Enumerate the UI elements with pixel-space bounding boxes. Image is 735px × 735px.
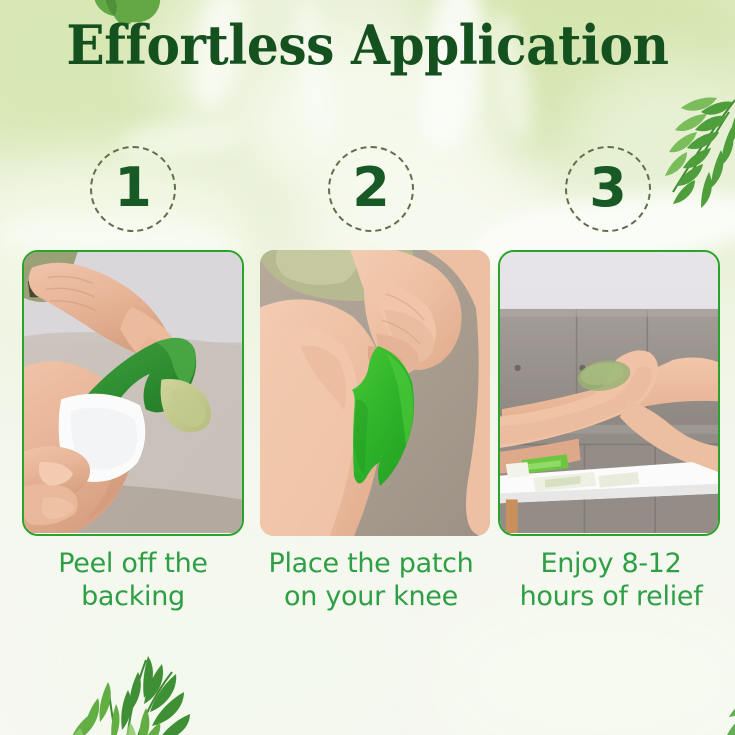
- caption-line: Enjoy 8-12: [486, 548, 735, 581]
- step-photo-2: [260, 250, 490, 536]
- caption-line: hours of relief: [486, 581, 735, 614]
- step-caption-3: Enjoy 8-12 hours of relief: [486, 548, 735, 614]
- step-number-label: 1: [114, 161, 152, 215]
- step-photo-1: [22, 250, 244, 536]
- caption-line: Peel off the: [10, 548, 256, 581]
- step-captions: Peel off the backing Place the patch on …: [0, 548, 735, 628]
- step-badge-3: 3: [565, 146, 651, 232]
- step-badge-1: 1: [90, 146, 176, 232]
- step-caption-2: Place the patch on your knee: [248, 548, 494, 614]
- step-badge-2: 2: [328, 146, 414, 232]
- photo-enjoy-hours-of-relief: [500, 252, 718, 533]
- caption-line: backing: [10, 581, 256, 614]
- photo-place-patch-on-knee: [260, 250, 490, 536]
- step-number-label: 2: [352, 161, 390, 215]
- caption-line: Place the patch: [248, 548, 494, 581]
- page-title: Effortless Application: [26, 18, 710, 72]
- step-number-label: 3: [589, 161, 627, 215]
- step-photo-3: [498, 250, 720, 536]
- step-badges: 1 2 3: [0, 146, 735, 232]
- caption-line: on your knee: [248, 581, 494, 614]
- step-photo-panels: [0, 250, 735, 536]
- infographic-canvas: Effortless Application 1 2 3: [0, 0, 735, 735]
- step-caption-1: Peel off the backing: [10, 548, 256, 614]
- photo-peel-off-backing: [24, 252, 242, 533]
